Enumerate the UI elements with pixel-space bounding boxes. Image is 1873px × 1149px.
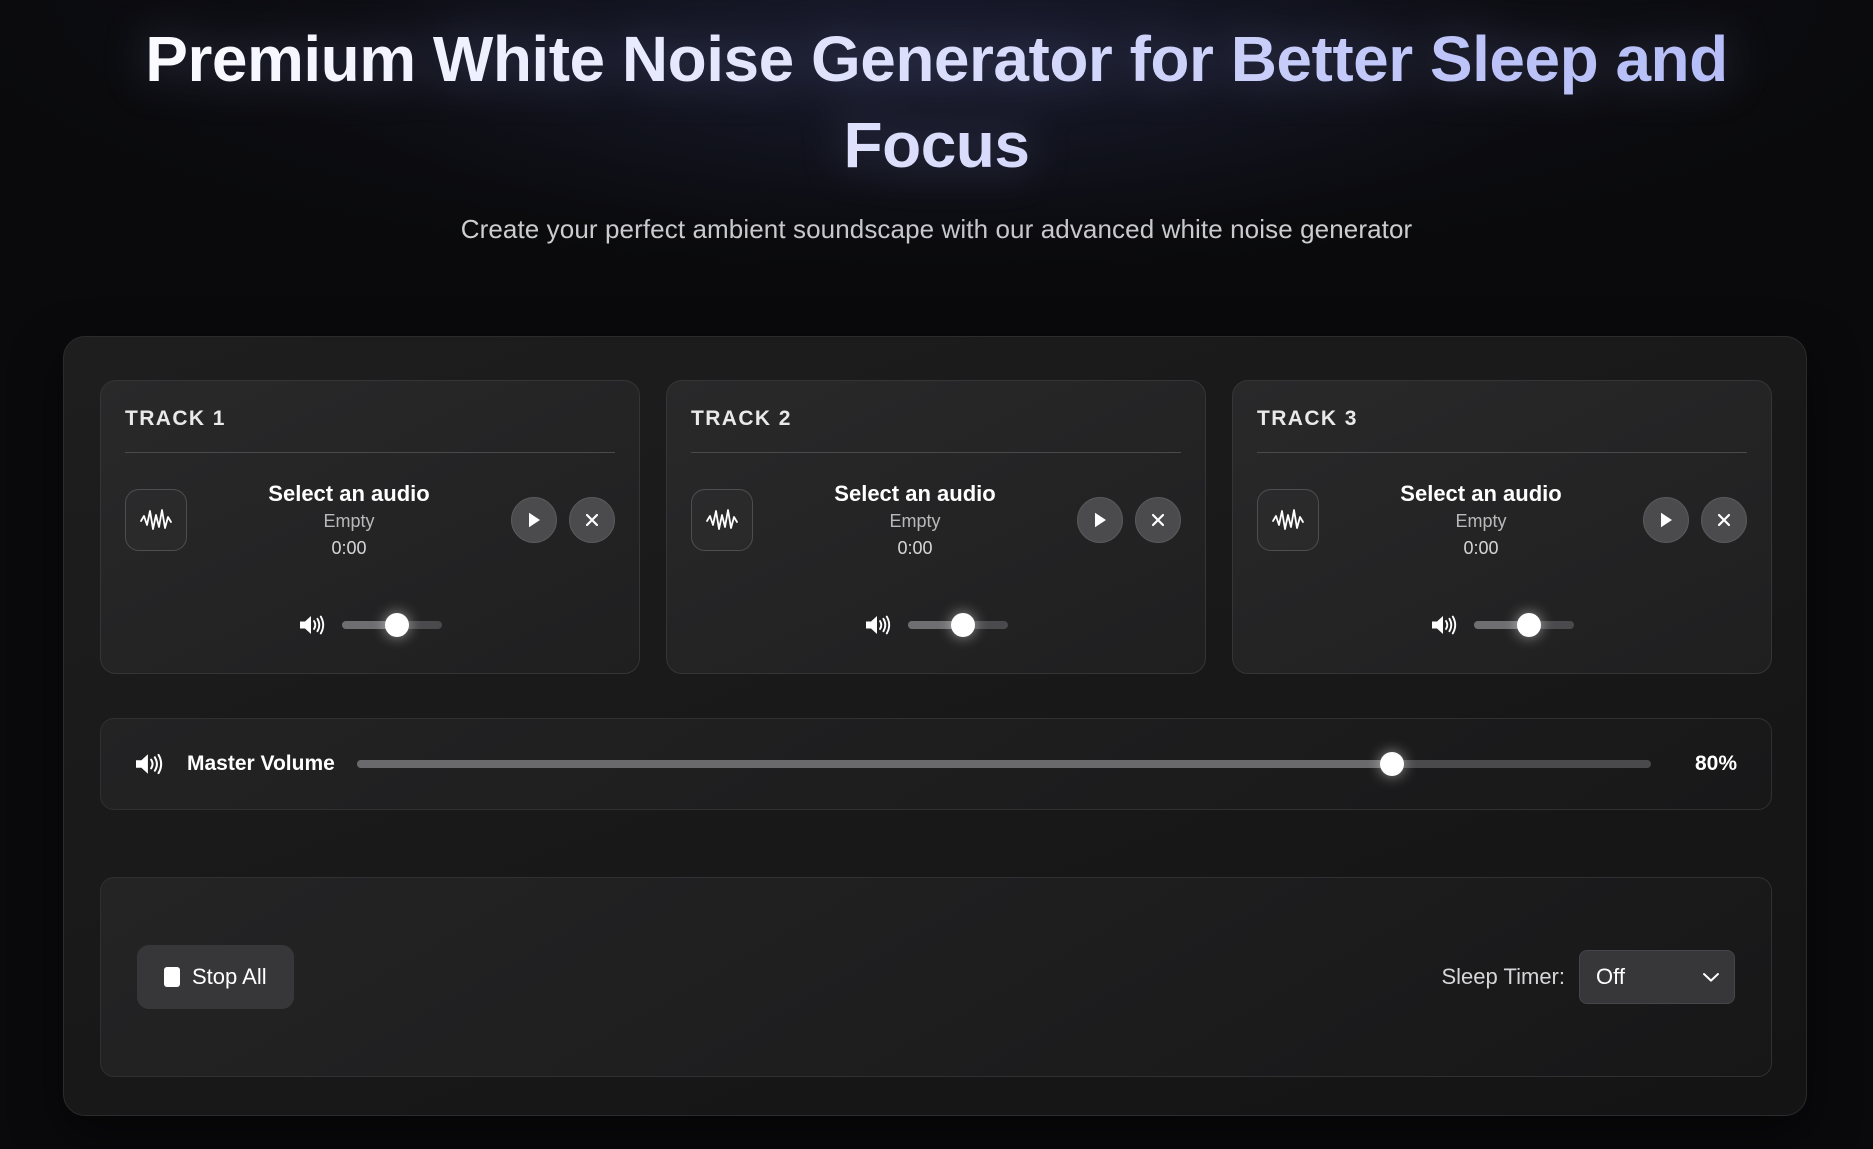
track-card-body: Select an audio Empty 0:00 bbox=[691, 481, 1181, 559]
slider-knob[interactable] bbox=[951, 613, 975, 637]
play-icon bbox=[526, 511, 542, 529]
page-header: Premium White Noise Generator for Better… bbox=[0, 0, 1873, 245]
clear-track-button[interactable] bbox=[569, 497, 615, 543]
track-actions bbox=[1077, 497, 1181, 543]
close-icon bbox=[584, 512, 600, 528]
track-card-body: Select an audio Empty 0:00 bbox=[125, 481, 615, 559]
track-thumbnail[interactable] bbox=[125, 489, 187, 551]
clear-track-button[interactable] bbox=[1135, 497, 1181, 543]
track-time: 0:00 bbox=[193, 538, 505, 560]
audio-waveform-icon bbox=[1271, 507, 1305, 533]
track-volume-slider[interactable] bbox=[1474, 621, 1574, 629]
track-name: Select an audio bbox=[1325, 481, 1637, 506]
track-volume-control bbox=[667, 613, 1205, 637]
track-thumbnail[interactable] bbox=[1257, 489, 1319, 551]
track-time: 0:00 bbox=[1325, 538, 1637, 560]
play-icon bbox=[1658, 511, 1674, 529]
track-state: Empty bbox=[759, 511, 1071, 533]
play-button[interactable] bbox=[1643, 497, 1689, 543]
track-name: Select an audio bbox=[759, 481, 1071, 506]
track-volume-slider[interactable] bbox=[342, 621, 442, 629]
play-button[interactable] bbox=[511, 497, 557, 543]
track-card-body: Select an audio Empty 0:00 bbox=[1257, 481, 1747, 559]
track-meta: Select an audio Empty 0:00 bbox=[1319, 481, 1643, 559]
track-card-title: TRACK 2 bbox=[691, 407, 1181, 431]
track-thumbnail[interactable] bbox=[691, 489, 753, 551]
volume-high-icon[interactable] bbox=[298, 613, 326, 637]
track-actions bbox=[511, 497, 615, 543]
track-meta: Select an audio Empty 0:00 bbox=[187, 481, 511, 559]
track-time: 0:00 bbox=[759, 538, 1071, 560]
sleep-timer-label: Sleep Timer: bbox=[1442, 964, 1566, 990]
divider bbox=[691, 452, 1181, 453]
track-list: TRACK 1 Select an audio Empty 0:00 bbox=[100, 380, 1772, 674]
divider bbox=[125, 452, 615, 453]
track-state: Empty bbox=[1325, 511, 1637, 533]
master-volume-value: 80% bbox=[1673, 752, 1737, 776]
stop-all-button[interactable]: Stop All bbox=[137, 945, 294, 1009]
play-icon bbox=[1092, 511, 1108, 529]
volume-high-icon[interactable] bbox=[864, 613, 892, 637]
master-volume-bar: Master Volume 80% bbox=[100, 718, 1772, 810]
play-button[interactable] bbox=[1077, 497, 1123, 543]
playback-controls-bar: Stop All Sleep Timer: Off bbox=[100, 877, 1772, 1077]
track-card[interactable]: TRACK 1 Select an audio Empty 0:00 bbox=[100, 380, 640, 674]
track-volume-slider[interactable] bbox=[908, 621, 1008, 629]
slider-fill bbox=[357, 760, 1392, 768]
sleep-timer-value: Off bbox=[1596, 964, 1625, 990]
generator-panel: TRACK 1 Select an audio Empty 0:00 bbox=[63, 336, 1807, 1116]
track-actions bbox=[1643, 497, 1747, 543]
track-card[interactable]: TRACK 2 Select an audio Empty 0:00 bbox=[666, 380, 1206, 674]
audio-waveform-icon bbox=[139, 507, 173, 533]
slider-knob[interactable] bbox=[1517, 613, 1541, 637]
sleep-timer-select[interactable]: Off bbox=[1579, 950, 1735, 1004]
track-name: Select an audio bbox=[193, 481, 505, 506]
audio-waveform-icon bbox=[705, 507, 739, 533]
master-volume-slider[interactable] bbox=[357, 760, 1651, 768]
track-card-title: TRACK 1 bbox=[125, 407, 615, 431]
volume-high-icon[interactable] bbox=[1430, 613, 1458, 637]
track-card[interactable]: TRACK 3 Select an audio Empty 0:00 bbox=[1232, 380, 1772, 674]
close-icon bbox=[1150, 512, 1166, 528]
track-state: Empty bbox=[193, 511, 505, 533]
master-volume-label: Master Volume bbox=[187, 752, 335, 776]
stop-square-icon bbox=[164, 967, 180, 987]
page-title: Premium White Noise Generator for Better… bbox=[0, 16, 1873, 188]
slider-knob[interactable] bbox=[1380, 752, 1404, 776]
stop-all-label: Stop All bbox=[192, 964, 267, 990]
track-volume-control bbox=[101, 613, 639, 637]
track-meta: Select an audio Empty 0:00 bbox=[753, 481, 1077, 559]
close-icon bbox=[1716, 512, 1732, 528]
sleep-timer-group: Sleep Timer: Off bbox=[1442, 950, 1736, 1004]
divider bbox=[1257, 452, 1747, 453]
slider-knob[interactable] bbox=[385, 613, 409, 637]
chevron-down-icon bbox=[1702, 971, 1720, 983]
app-root: Premium White Noise Generator for Better… bbox=[0, 0, 1873, 1149]
track-card-title: TRACK 3 bbox=[1257, 407, 1747, 431]
page-subtitle: Create your perfect ambient soundscape w… bbox=[0, 214, 1873, 245]
track-volume-control bbox=[1233, 613, 1771, 637]
volume-high-icon[interactable] bbox=[133, 751, 165, 777]
clear-track-button[interactable] bbox=[1701, 497, 1747, 543]
